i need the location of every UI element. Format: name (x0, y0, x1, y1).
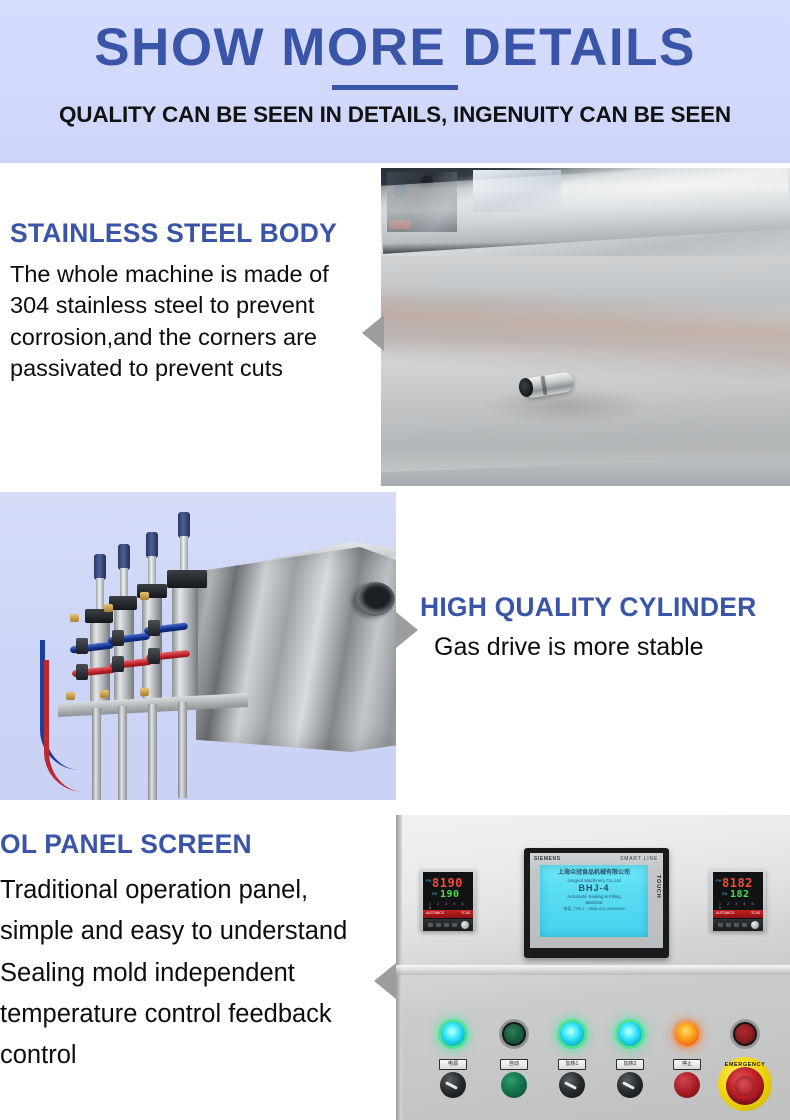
emergency-stop-button[interactable] (726, 1067, 764, 1105)
power-selector-knob[interactable] (440, 1072, 466, 1098)
controller-brand-label: AUTONICS (716, 911, 734, 915)
page-title: SHOW MORE DETAILS (0, 18, 790, 77)
section-control-panel-screen: SIEMENS SMART LINE TOUCH 上海众冠食品机械有限公司 Jo… (0, 815, 790, 1120)
section-title-control-panel-screen: OL PANEL SCREEN (0, 829, 388, 860)
stop-button-cap[interactable] (674, 1072, 700, 1098)
controller-pv-value: 8190 (432, 876, 463, 890)
controller-model-label: TC4S (751, 911, 760, 915)
emergency-stop[interactable]: EMERGENCY (718, 1057, 772, 1111)
temperature-controller-left[interactable]: PV 8190 SV 190 1 2 3 4 5 6 AUTONICS TC4S (420, 869, 476, 931)
section-high-quality-cylinder: HIGH QUALITY CYLINDER Gas drive is more … (0, 492, 790, 802)
auto-button[interactable]: 自动 (499, 1059, 529, 1098)
heat2-lamp (615, 1019, 645, 1049)
high-quality-cylinder-image (0, 492, 396, 800)
controller-led-row: 1 2 3 4 5 6 (429, 902, 473, 910)
controller-button-1[interactable] (428, 923, 433, 927)
controller-button-3[interactable] (734, 923, 739, 927)
control-panel-image: SIEMENS SMART LINE TOUCH 上海众冠食品机械有限公司 Jo… (396, 815, 790, 1120)
drain-nozzle-icon (516, 373, 578, 395)
stop-lamp (672, 1019, 702, 1049)
controller-knob[interactable] (461, 921, 469, 929)
controller-button-1[interactable] (718, 923, 723, 927)
tube-fitting-6 (148, 648, 160, 664)
controller-button-2[interactable] (726, 923, 731, 927)
callout-pointer-right-icon (396, 612, 418, 648)
brass-fitting-2 (104, 604, 113, 612)
controller-sv-value: 190 (440, 889, 460, 900)
hmi-screen-line-3: BHJ-4 (540, 883, 648, 894)
stainless-steel-body-image (381, 168, 790, 486)
guide-rod-2 (118, 706, 127, 800)
supply-hose-red (44, 660, 92, 792)
controller-led-row: 1 2 3 4 5 6 (719, 902, 763, 910)
hmi-screen-line-1: 上海众冠食品机械有限公司 (540, 870, 648, 878)
lamp-glass (733, 1022, 757, 1046)
controller-button-4[interactable] (742, 923, 747, 927)
title-underline (332, 85, 458, 90)
lamp-glass (441, 1022, 465, 1046)
auto-lamp (499, 1019, 529, 1049)
brass-fitting-5 (100, 690, 109, 698)
guide-rod-4 (178, 702, 187, 798)
controller-sv-tag: SV (432, 891, 437, 896)
heat2-selector-knob[interactable] (617, 1072, 643, 1098)
auto-button-cap[interactable] (501, 1072, 527, 1098)
controller-model-label: TC4S (461, 911, 470, 915)
controller-face: PV 8190 SV 190 1 2 3 4 5 6 AUTONICS TC4S (423, 872, 473, 928)
floor-shadow (381, 450, 790, 486)
page-subtitle: QUALITY CAN BE SEEN IN DETAILS, INGENUIT… (0, 102, 790, 128)
cylinder-cap-3 (146, 532, 158, 558)
hmi-series-label: SMART LINE (620, 856, 658, 862)
control-panel-screen-text: OL PANEL SCREEN Traditional operation pa… (0, 829, 388, 1076)
cylinder-barrel-4 (172, 578, 198, 698)
cylinder-barrel-2 (114, 606, 134, 700)
brass-fitting-1 (70, 614, 79, 622)
hmi-brand-label: SIEMENS (534, 856, 561, 862)
section-stainless-steel-body: STAINLESS STEEL BODY The whole machine i… (0, 163, 790, 488)
section-body-high-quality-cylinder: Gas drive is more stable (420, 631, 790, 664)
brass-fitting-3 (140, 592, 149, 600)
page-header: SHOW MORE DETAILS QUALITY CAN BE SEEN IN… (0, 0, 790, 163)
brass-fitting-6 (140, 688, 149, 696)
controller-sv-tag: SV (722, 891, 727, 896)
hmi-screen-line-6: 电话（TEL）: 0086-021-00000000 (540, 906, 648, 911)
power-selector[interactable]: 电源 (438, 1059, 468, 1098)
tube-fitting-2 (112, 630, 124, 646)
guide-rod-3 (148, 704, 157, 800)
tube-fitting-5 (112, 656, 124, 672)
hmi-screen[interactable]: 上海众冠食品机械有限公司 Jonguol Machinery Co.,Ltd B… (540, 865, 648, 937)
cylinder-cap-2 (118, 544, 130, 570)
stainless-steel-body-text: STAINLESS STEEL BODY The whole machine i… (10, 218, 362, 384)
stainless-hopper (196, 547, 396, 752)
cylinder-barrel-3 (142, 594, 162, 698)
tube-fitting-3 (148, 620, 160, 636)
section-title-stainless-steel-body: STAINLESS STEEL BODY (10, 218, 362, 249)
section-title-high-quality-cylinder: HIGH QUALITY CYLINDER (420, 592, 790, 623)
guide-rod-1 (92, 708, 101, 800)
cylinder-cap-1 (94, 554, 106, 580)
temperature-controller-right[interactable]: PV 8182 SV 182 1 2 3 4 5 6 AUTONICS TC4S (710, 869, 766, 931)
auto-button-label: 自动 (500, 1059, 528, 1070)
cylinder-cap-4 (178, 512, 190, 538)
power-selector-label: 电源 (439, 1059, 467, 1070)
hmi-bezel: SIEMENS SMART LINE TOUCH 上海众冠食品机械有限公司 Jo… (530, 853, 663, 948)
alarm-lamp (730, 1019, 760, 1049)
section-body-control-panel-screen: Traditional operation panel, simple and … (0, 870, 388, 1076)
cylinder-valve-block-4 (167, 570, 207, 588)
lamp-glass (502, 1022, 526, 1046)
heat1-selector-label: 加热1 (558, 1059, 586, 1070)
heat2-selector[interactable]: 加热2 (615, 1059, 645, 1098)
controller-button-2[interactable] (436, 923, 441, 927)
lamp-glass (618, 1022, 642, 1046)
power-lamp (438, 1019, 468, 1049)
hmi-touch-panel[interactable]: SIEMENS SMART LINE TOUCH 上海众冠食品机械有限公司 Jo… (524, 848, 669, 958)
controller-knob[interactable] (751, 921, 759, 929)
controller-face: PV 8182 SV 182 1 2 3 4 5 6 AUTONICS TC4S (713, 872, 763, 928)
controller-brand-label: AUTONICS (426, 911, 444, 915)
controller-sv-value: 182 (730, 889, 750, 900)
heat1-selector-knob[interactable] (559, 1072, 585, 1098)
panel-seam (396, 965, 790, 975)
detail-page: SHOW MORE DETAILS QUALITY CAN BE SEEN IN… (0, 0, 790, 1120)
cylinder-valve-block-2 (109, 596, 137, 610)
heat1-selector[interactable]: 加热1 (557, 1059, 587, 1098)
hmi-touch-label: TOUCH (655, 875, 661, 898)
controller-pv-value: 8182 (722, 876, 753, 890)
hopper-port (355, 582, 395, 616)
lamp-glass (675, 1022, 699, 1046)
controller-pv-tag: PV (716, 878, 721, 883)
controller-pv-tag: PV (426, 878, 431, 883)
controller-button-4[interactable] (452, 923, 457, 927)
callout-pointer-left-icon (362, 315, 384, 351)
heat2-selector-label: 加热2 (616, 1059, 644, 1070)
stop-button[interactable]: 停止 (672, 1059, 702, 1098)
section-body-stainless-steel-body: The whole machine is made of 304 stainle… (10, 259, 362, 384)
lamp-glass (560, 1022, 584, 1046)
heat1-lamp (557, 1019, 587, 1049)
controller-button-3[interactable] (444, 923, 449, 927)
high-quality-cylinder-text: HIGH QUALITY CYLINDER Gas drive is more … (420, 592, 790, 664)
stop-button-label: 停止 (673, 1059, 701, 1070)
